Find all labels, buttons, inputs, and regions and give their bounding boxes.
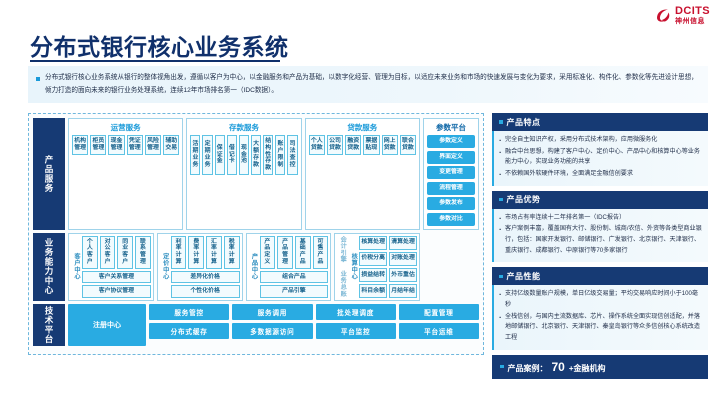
cell[interactable]: 客户关系管理 (82, 271, 151, 284)
cell[interactable]: 核算处理 (359, 236, 387, 250)
cell[interactable]: 产品定义 (260, 236, 276, 269)
list-item: 客户案例丰富，覆盖国有大行、股份制、城商/农信、外资等各类型商业银行，包括：国家… (499, 224, 702, 256)
architecture-diagram: 产品服务 运营服务 机构管理 柜员管理 现金管理 凭证管理 风险管理 辅助交易 … (28, 113, 484, 355)
cell[interactable]: 机构管理 (72, 135, 88, 155)
logo-text-cn: 神州信息 (675, 18, 710, 25)
case-count-bar: 产品案例： 70 +金融机构 (492, 355, 708, 379)
cell[interactable]: 现金池 (239, 135, 249, 175)
tech-register-center[interactable]: 注册中心 (68, 304, 146, 346)
square-bullet-icon (500, 365, 504, 369)
cell[interactable]: 差异化价格 (171, 271, 240, 284)
group-title: 贷款服务 (309, 121, 416, 135)
cell[interactable]: 结构性存款 (263, 135, 273, 175)
side-label-tech-platform: 技术平台 (33, 304, 65, 346)
cell[interactable]: 汇率计算 (206, 236, 222, 269)
cell[interactable]: 个人客户 (82, 236, 98, 269)
cell[interactable]: 基础产品 (295, 236, 311, 269)
center-label: 客户中心 (71, 236, 82, 299)
panel-body: 支持亿级数量账户规模，单日亿级交易量；平均交易响应时间小于100毫秒 全栈信创，… (492, 285, 708, 349)
cell[interactable]: 变更管理 (427, 166, 475, 179)
group-parameter-platform: 参数平台 参数定义 界面定义 变更管理 流程管理 参数发布 参数对比 (423, 118, 479, 230)
panel-body: 市场占有率连续十二年排名第一（IDC报告） 客户案例丰富，覆盖国有大行、股份制、… (492, 209, 708, 263)
band-capability-centers: 业务能力中心 客户中心 个人客户 对公客户 同业客户 联系管理 客户关系管理 客… (33, 233, 479, 302)
panel-header: 产品性能 (492, 267, 708, 285)
cell[interactable]: 利率计算 (171, 236, 187, 269)
panel-header: 产品优势 (492, 191, 708, 209)
intro-banner: 分布式银行核心业务系统从银行的整体视角出发，遵循以客户为中心，以金融服务和产品为… (28, 66, 708, 103)
cell[interactable]: 保证金 (215, 135, 225, 175)
cell[interactable]: 辅助交易 (163, 135, 179, 155)
cell[interactable]: 费率计算 (188, 236, 204, 269)
panel-product-features: 产品特点 完全自主知识产权，采用分布式技术架构，应用微服务化 融合中台思想，构建… (492, 113, 708, 186)
cell[interactable]: 对账处理 (389, 252, 417, 266)
group-operation-services: 运营服务 机构管理 柜员管理 现金管理 凭证管理 风险管理 辅助交易 (68, 118, 183, 230)
cell[interactable]: 清算处理 (389, 236, 417, 250)
cell[interactable]: 借记卡 (227, 135, 237, 175)
square-bullet-icon (499, 275, 503, 279)
square-bullet-icon (36, 77, 40, 81)
center-customer: 客户中心 个人客户 对公客户 同业客户 联系管理 客户关系管理 客户协议管理 (68, 233, 154, 302)
panel-title: 产品优势 (507, 194, 541, 205)
brand-logo: DCITS 神州信息 (655, 6, 710, 25)
tech-cell[interactable]: 配置管理 (399, 304, 479, 320)
cell[interactable]: 风险管理 (145, 135, 161, 155)
side-label-capability-centers: 业务能力中心 (33, 233, 65, 302)
cell[interactable]: 价税分离 (359, 252, 387, 266)
cell[interactable]: 组合产品 (260, 271, 329, 284)
tech-cell[interactable]: 平台监控 (316, 323, 396, 339)
cell[interactable]: 流程管理 (427, 182, 475, 195)
panel-product-advantages: 产品优势 市场占有率连续十二年排名第一（IDC报告） 客户案例丰富，覆盖国有大行… (492, 191, 708, 263)
center-accounting: 会计引擎 业务总账 核算中心 核算处理 清算处理 价税分离 对账处理 损益结转 … (334, 233, 420, 302)
group-title: 运营服务 (72, 121, 179, 135)
cell[interactable]: 活期业务 (190, 135, 200, 175)
info-panels: 产品特点 完全自主知识产权，采用分布式技术架构，应用微服务化 融合中台思想，构建… (492, 113, 708, 379)
list-item: 全栈信创，与国内主流数据库、芯片、操作系统全面实现信创适配，并落地邮储银行、北京… (499, 312, 702, 344)
case-suffix: +金融机构 (569, 363, 606, 374)
group-title: 存款服务 (190, 121, 297, 135)
logo-text-en: DCITS (675, 6, 710, 17)
cell[interactable]: 联系管理 (135, 236, 151, 269)
cell[interactable]: 参数发布 (427, 197, 475, 210)
square-bullet-icon (499, 120, 503, 124)
list-item: 融合中台思想，构建了客户中心、定价中心、产品中心和核算中心等业务能力中心，实现业… (499, 147, 702, 168)
list-item: 市场占有率连续十二年排名第一（IDC报告） (499, 213, 702, 224)
tech-cell[interactable]: 服务调用 (232, 304, 312, 320)
tech-cell[interactable]: 平台运维 (399, 323, 479, 339)
cell[interactable]: 可售产品 (313, 236, 329, 269)
center-label: 定价中心 (160, 236, 171, 299)
cell[interactable]: 客户协议管理 (82, 285, 151, 298)
cell[interactable]: 大额存款 (251, 135, 261, 175)
band-tech-platform: 技术平台 注册中心 服务管控 服务调用 批处理调度 配置管理 分布式缓存 多数据… (33, 304, 479, 346)
tech-cell[interactable]: 多数据源访问 (232, 323, 312, 339)
cell[interactable]: 个人贷款 (309, 135, 325, 155)
case-number: 70 (552, 360, 565, 374)
title-underline (30, 60, 280, 62)
group-loan-services: 贷款服务 个人贷款 公司贷款 融资贷款 票据贴现 网上贷款 联合贷款 (305, 118, 420, 230)
cell[interactable]: 网上贷款 (382, 135, 398, 155)
cell[interactable]: 对公客户 (100, 236, 116, 269)
cell[interactable]: 科目余额 (359, 284, 387, 298)
cell[interactable]: 票据贴现 (363, 135, 379, 155)
cell[interactable]: 现金管理 (108, 135, 124, 155)
cell[interactable]: 司法查控 (287, 135, 297, 175)
page-title: 分布式银行核心业务系统 (30, 28, 289, 62)
panel-product-performance: 产品性能 支持亿级数量账户规模，单日亿级交易量；平均交易响应时间小于100毫秒 … (492, 267, 708, 349)
logo-wordmark: DCITS 神州信息 (675, 6, 710, 25)
center-label: 核算中心 (348, 236, 359, 299)
cell[interactable]: 融资贷款 (345, 135, 361, 155)
cell[interactable]: 损益结转 (359, 268, 387, 282)
intro-text: 分布式银行核心业务系统从银行的整体视角出发，遵循以客户为中心，以金融服务和产品为… (45, 72, 700, 97)
panel-header: 产品特点 (492, 113, 708, 131)
cell[interactable]: 产品引擎 (260, 285, 329, 298)
cell[interactable]: 参数定义 (427, 135, 475, 148)
square-bullet-icon (499, 198, 503, 202)
cell[interactable]: 定期业务 (202, 135, 212, 175)
panel-title: 产品特点 (507, 117, 541, 128)
list-item: 支持亿级数量账户规模，单日亿级交易量；平均交易响应时间小于100毫秒 (499, 289, 702, 310)
list-item: 不依赖国外软硬件环境，全面满足金融信创要求 (499, 169, 702, 180)
center-product: 产品中心 产品定义 产品管理 基础产品 可售产品 组合产品 产品引擎 (246, 233, 332, 302)
center-label: 产品中心 (249, 236, 260, 299)
list-item: 完全自主知识产权，采用分布式技术架构，应用微服务化 (499, 135, 702, 146)
cell[interactable]: 界面定义 (427, 151, 475, 164)
accounting-engine-label: 会计引擎 业务总账 (337, 236, 348, 299)
cell[interactable]: 账户限制 (275, 135, 285, 175)
band-product-services: 产品服务 运营服务 机构管理 柜员管理 现金管理 凭证管理 风险管理 辅助交易 … (33, 118, 479, 230)
case-label: 产品案例： (508, 363, 548, 374)
cell[interactable]: 月结年结 (389, 284, 417, 298)
tech-cell[interactable]: 批处理调度 (316, 304, 396, 320)
tech-cell[interactable]: 分布式缓存 (149, 323, 229, 339)
cell[interactable]: 公司贷款 (327, 135, 343, 155)
cell[interactable]: 产品管理 (277, 236, 293, 269)
cell[interactable]: 凭证管理 (127, 135, 143, 155)
dcits-swirl-icon (655, 7, 672, 24)
panel-title: 产品性能 (507, 271, 541, 282)
cell[interactable]: 联合贷款 (400, 135, 416, 155)
cell[interactable]: 同业客户 (117, 236, 133, 269)
cell[interactable]: 外币重估 (389, 268, 417, 282)
cell[interactable]: 柜员管理 (90, 135, 106, 155)
cell[interactable]: 个性化价格 (171, 285, 240, 298)
panel-body: 完全自主知识产权，采用分布式技术架构，应用微服务化 融合中台思想，构建了客户中心… (492, 131, 708, 186)
group-deposit-services: 存款服务 活期业务 定期业务 保证金 借记卡 现金池 大额存款 结构性存款 账户… (186, 118, 301, 230)
cell[interactable]: 参数对比 (427, 213, 475, 226)
group-title: 参数平台 (427, 121, 475, 135)
cell[interactable]: 税率计算 (224, 236, 240, 269)
side-label-product-services: 产品服务 (33, 118, 65, 230)
tech-cell[interactable]: 服务管控 (149, 304, 229, 320)
center-pricing: 定价中心 利率计算 费率计算 汇率计算 税率计算 差异化价格 个性化价格 (157, 233, 243, 302)
